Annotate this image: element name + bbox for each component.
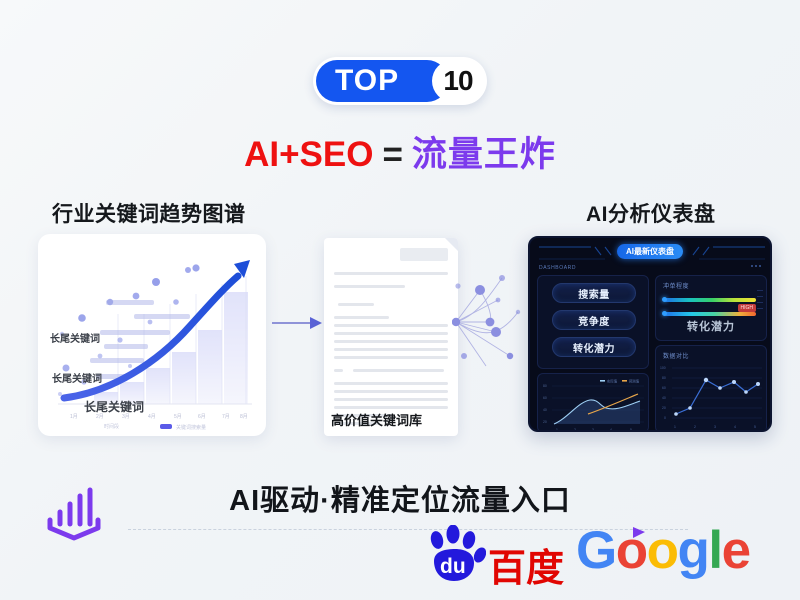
svg-text:100: 100 bbox=[660, 366, 666, 370]
svg-text:80: 80 bbox=[662, 376, 666, 380]
bottom-tagline: AI驱动·精准定位流量入口 bbox=[0, 477, 800, 519]
svg-text:实际值: 实际值 bbox=[607, 379, 618, 384]
gauge-bar-competition bbox=[664, 298, 756, 302]
keyword-library-document-card[interactable]: 高价值关键词库 bbox=[324, 238, 458, 436]
gauge-bar-conversion bbox=[664, 312, 756, 316]
dashboard-menu-dots[interactable] bbox=[751, 265, 761, 267]
top-rank-badge: TOP 10 bbox=[313, 57, 487, 105]
gauge-overlay-label: 转化潜力 bbox=[656, 318, 766, 334]
svg-text:40: 40 bbox=[543, 408, 547, 412]
google-letter-e: e bbox=[722, 521, 750, 580]
node-network-icon bbox=[452, 270, 536, 378]
svg-text:时间段: 时间段 bbox=[104, 423, 119, 430]
svg-text:3: 3 bbox=[714, 425, 716, 429]
svg-text:1月: 1月 bbox=[70, 414, 78, 420]
svg-text:1: 1 bbox=[674, 425, 676, 429]
svg-text:2: 2 bbox=[574, 428, 576, 432]
svg-text:4月: 4月 bbox=[148, 414, 156, 420]
headline-operator: = bbox=[382, 135, 402, 174]
gauge-knob-1[interactable] bbox=[662, 297, 667, 302]
svg-text:2: 2 bbox=[694, 425, 696, 429]
dashboard-gauge-panel: 冲单程度 HIGH 转化潜力 bbox=[655, 275, 767, 341]
svg-text:1: 1 bbox=[556, 428, 558, 432]
svg-text:60: 60 bbox=[662, 386, 666, 390]
baidu-paw-text: du bbox=[440, 555, 466, 578]
metric-pill-competition[interactable]: 竞争度 bbox=[552, 310, 636, 330]
section-label-dashboard: AI分析仪表盘 bbox=[586, 198, 716, 228]
section-label-trend: 行业关键词趋势图谱 bbox=[52, 198, 246, 228]
headline-right: 流量王炸 bbox=[412, 135, 556, 174]
google-letter-g1: G bbox=[576, 521, 616, 580]
svg-text:40: 40 bbox=[662, 396, 666, 400]
dashboard-topbar: AI最新仪表盘 bbox=[535, 243, 765, 265]
dashboard-sub-label: DASHBOARD bbox=[539, 265, 576, 271]
top-badge-number: 10 bbox=[443, 65, 472, 97]
gauge-panel-ticks bbox=[757, 290, 763, 309]
document-text-lines bbox=[334, 250, 448, 430]
svg-text:5: 5 bbox=[754, 425, 756, 429]
dashboard-area-chart-panel: 80 60 40 20 1 2 3 4 5 实际值 预测值 bbox=[537, 373, 649, 432]
document-label: 高价值关键词库 bbox=[331, 410, 422, 429]
area-chart-legend: 实际值 预测值 bbox=[600, 379, 640, 384]
svg-text:4: 4 bbox=[734, 425, 736, 429]
google-logo[interactable]: Google bbox=[576, 524, 750, 577]
svg-text:60: 60 bbox=[543, 396, 547, 400]
dashboard-metrics-panel: 搜索量 竞争度 转化潜力 bbox=[537, 275, 649, 369]
trend-keyword-label-1: 长尾关键词 bbox=[50, 330, 100, 345]
svg-text:5: 5 bbox=[630, 428, 632, 432]
svg-text:0: 0 bbox=[664, 416, 666, 420]
google-letter-o1: o bbox=[616, 521, 647, 580]
trend-keyword-label-2: 长尾关键词 bbox=[52, 370, 102, 385]
line-chart-points bbox=[674, 378, 760, 416]
dashboard-header-badge: AI最新仪表盘 bbox=[617, 244, 683, 259]
svg-text:4: 4 bbox=[610, 428, 612, 432]
top-badge-label: TOP bbox=[335, 64, 399, 98]
dashboard-line-chart-panel: 数据对比 bbox=[655, 345, 767, 432]
baidu-wordmark: 百度 bbox=[488, 537, 564, 592]
svg-text:5月: 5月 bbox=[174, 414, 182, 420]
line-chart-svg: 100 80 60 40 20 0 1 2 3 4 5 bbox=[656, 346, 768, 432]
metric-pill-conversion[interactable]: 转化潜力 bbox=[552, 337, 636, 357]
svg-text:预测值: 预测值 bbox=[629, 379, 640, 384]
svg-text:20: 20 bbox=[662, 406, 666, 410]
svg-text:80: 80 bbox=[543, 384, 547, 388]
trend-legend: 关键词搜索量 bbox=[160, 424, 206, 431]
gauge-knob-2[interactable] bbox=[662, 311, 667, 316]
svg-text:关键词搜索量: 关键词搜索量 bbox=[176, 424, 206, 431]
ai-dashboard-card[interactable]: AI最新仪表盘 DASHBOARD 搜索量 竞争度 转化潜力 冲单程度 HIGH… bbox=[528, 236, 772, 432]
area-chart-svg: 80 60 40 20 1 2 3 4 5 实际值 预测值 bbox=[538, 374, 650, 432]
top-badge-circle: 10 bbox=[432, 60, 484, 102]
svg-text:3: 3 bbox=[592, 428, 594, 432]
trend-keyword-label-3: 长尾关键词 bbox=[84, 398, 144, 415]
google-letter-l: l bbox=[708, 521, 721, 580]
gauge-panel-title: 冲单程度 bbox=[663, 281, 689, 290]
arrow-right-icon bbox=[272, 316, 324, 330]
google-letter-g2: g bbox=[677, 521, 708, 580]
trend-chart-card[interactable]: 1月 2月 3月 4月 5月 6月 7月 8月 关键词搜索量 时间段 长尾关键词… bbox=[38, 234, 266, 436]
svg-text:6月: 6月 bbox=[198, 414, 206, 420]
google-letter-o2: o bbox=[647, 521, 678, 580]
svg-text:20: 20 bbox=[543, 420, 547, 424]
svg-text:8月: 8月 bbox=[240, 414, 248, 420]
baidu-paw-icon: du bbox=[424, 525, 486, 585]
page-title: AI+SEO=流量王炸 bbox=[0, 126, 800, 177]
metric-pill-search-volume[interactable]: 搜索量 bbox=[552, 283, 636, 303]
headline-left: AI+SEO bbox=[244, 135, 373, 174]
bar-chart-icon bbox=[42, 482, 106, 544]
gauge-status-tag: HIGH bbox=[738, 304, 757, 312]
network-nodes bbox=[452, 275, 520, 359]
svg-text:7月: 7月 bbox=[222, 414, 230, 420]
